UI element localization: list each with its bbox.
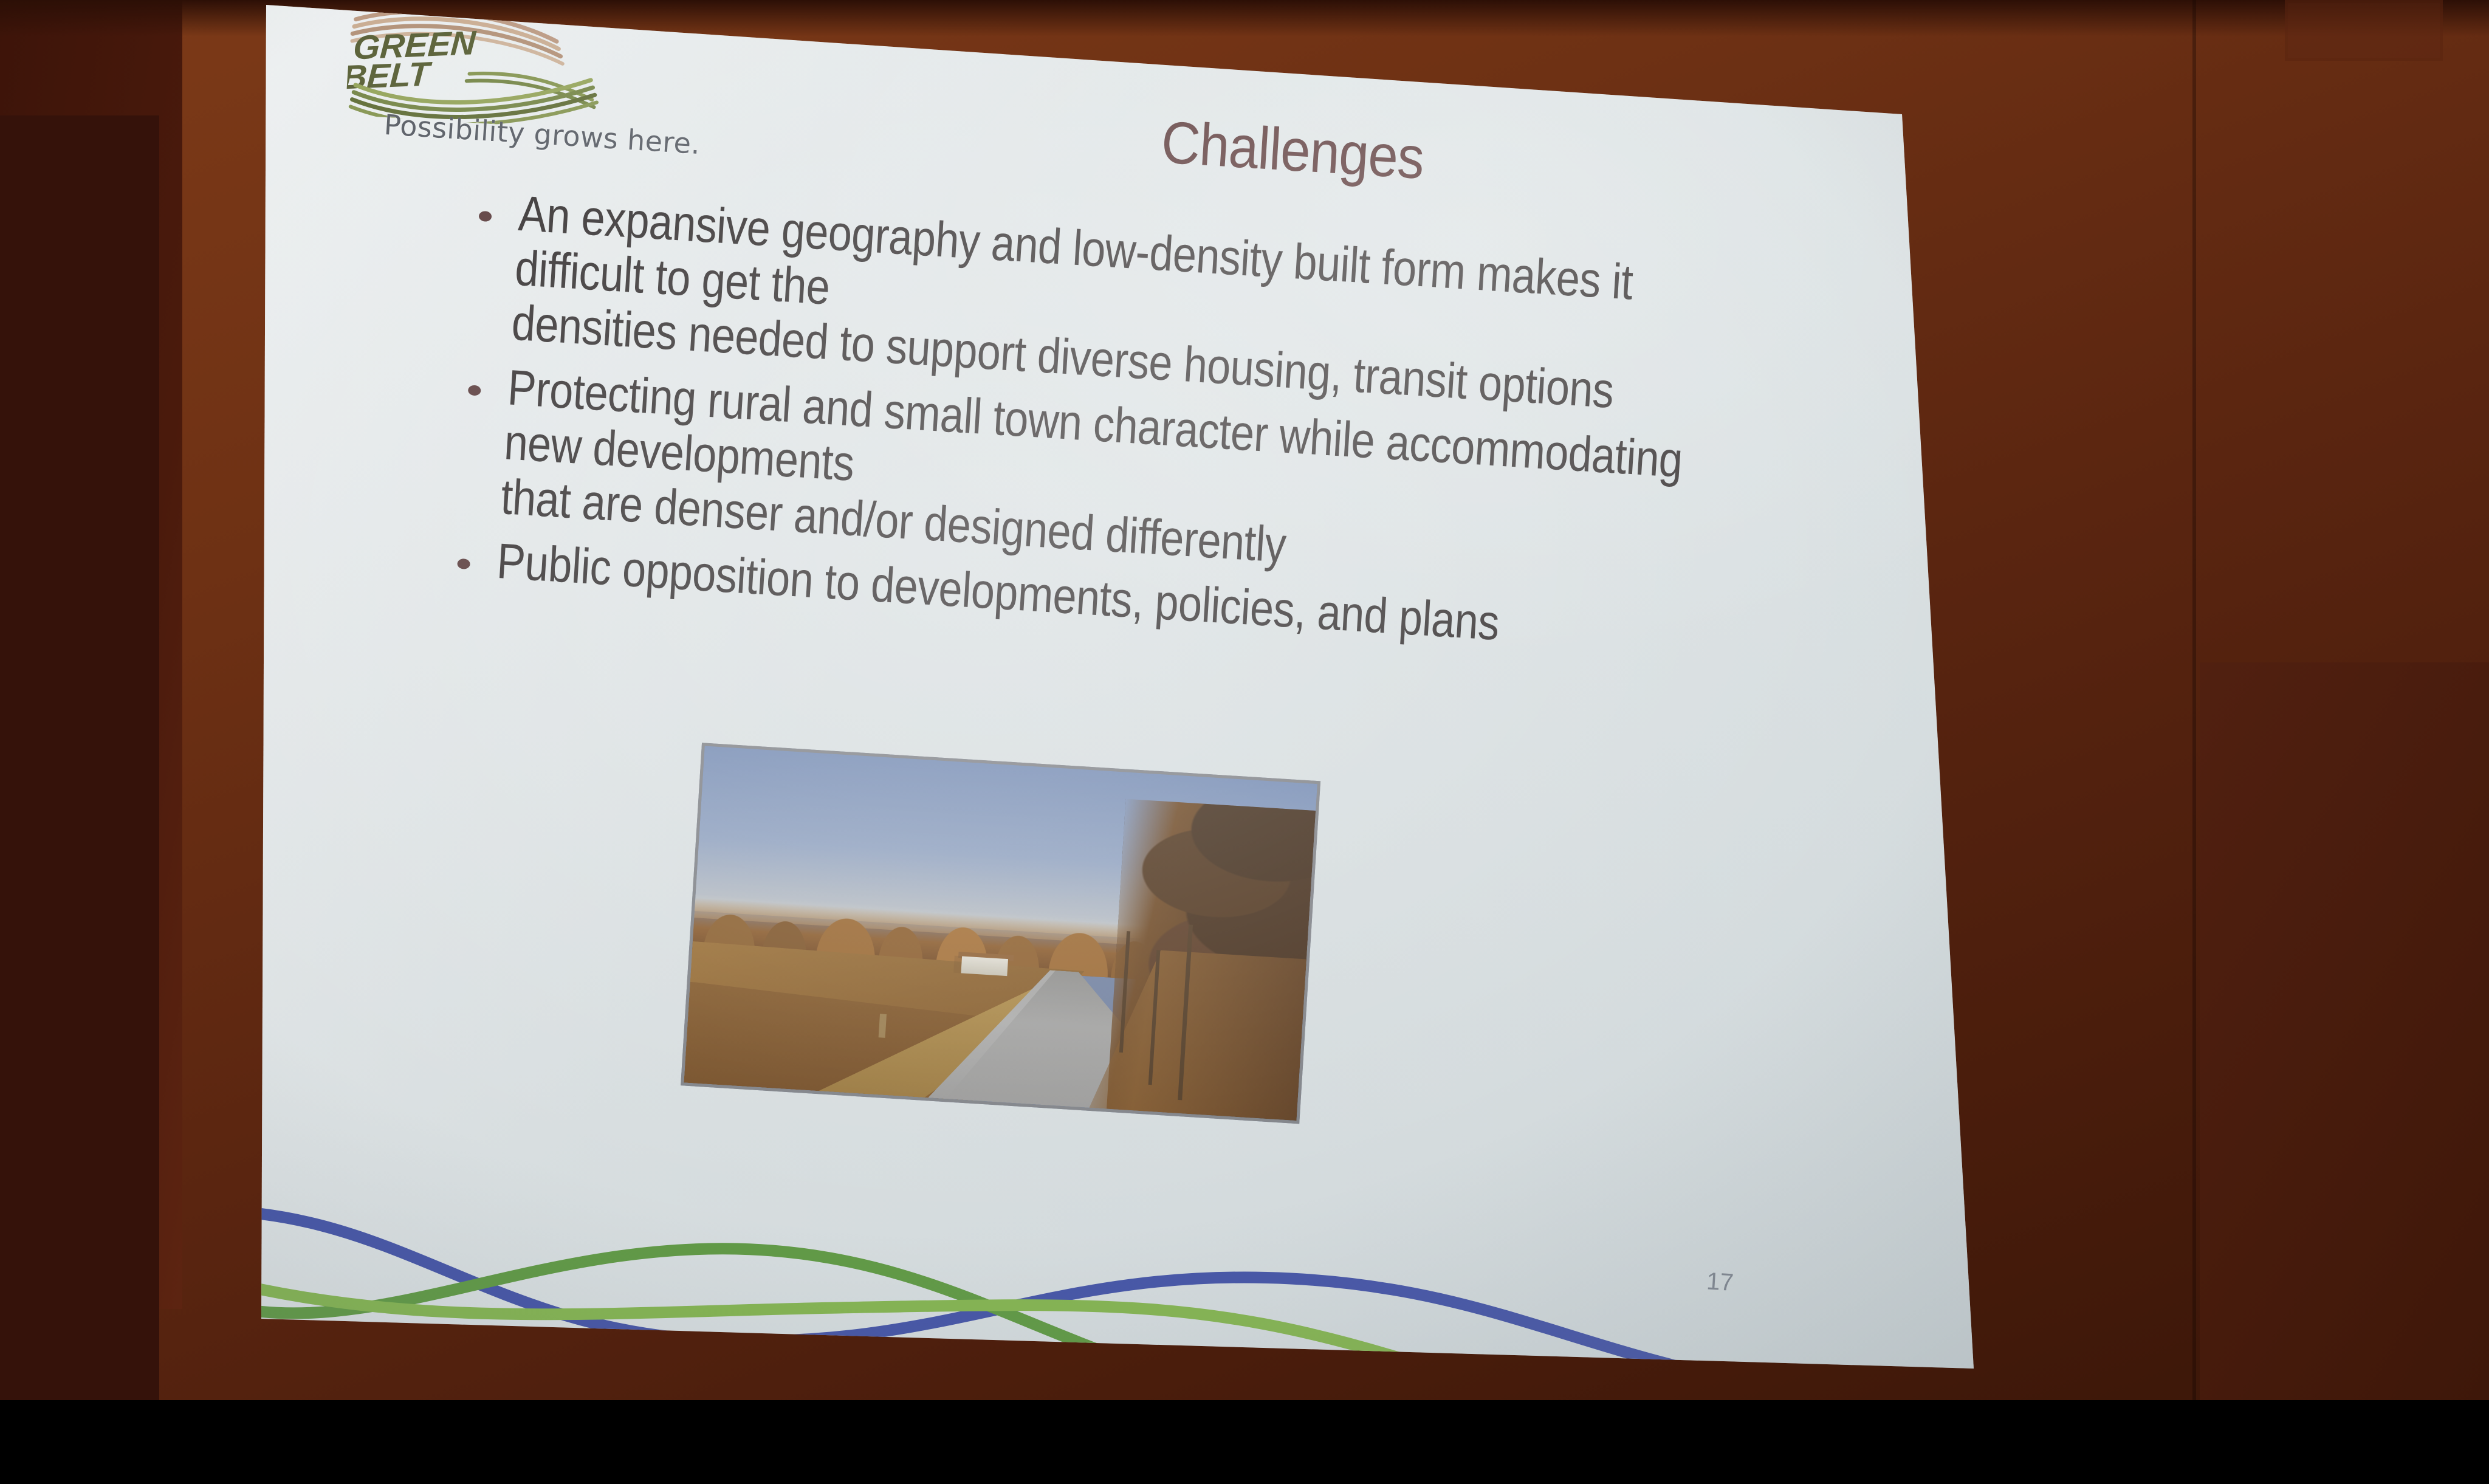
bullet-dot-icon	[468, 385, 481, 396]
slide-photo	[681, 743, 1320, 1124]
bullet-list: An expansive geography and low-density b…	[331, 176, 1909, 685]
page-title: Challenges	[1045, 101, 1540, 200]
slide-content: GREEN BELT Possibility grows here. Chall…	[176, 0, 1978, 1483]
footer-wave-graphic	[157, 1175, 1917, 1484]
projection-screen: GREEN BELT Possibility grows here. Chall…	[261, 0, 1981, 1379]
projection-screen-area: GREEN BELT Possibility grows here. Chall…	[0, 0, 2489, 1400]
bullet-dot-icon	[479, 211, 492, 222]
svg-text:BELT: BELT	[345, 55, 433, 97]
photo-farm-building	[961, 957, 1008, 976]
bullet-dot-icon	[457, 558, 470, 569]
